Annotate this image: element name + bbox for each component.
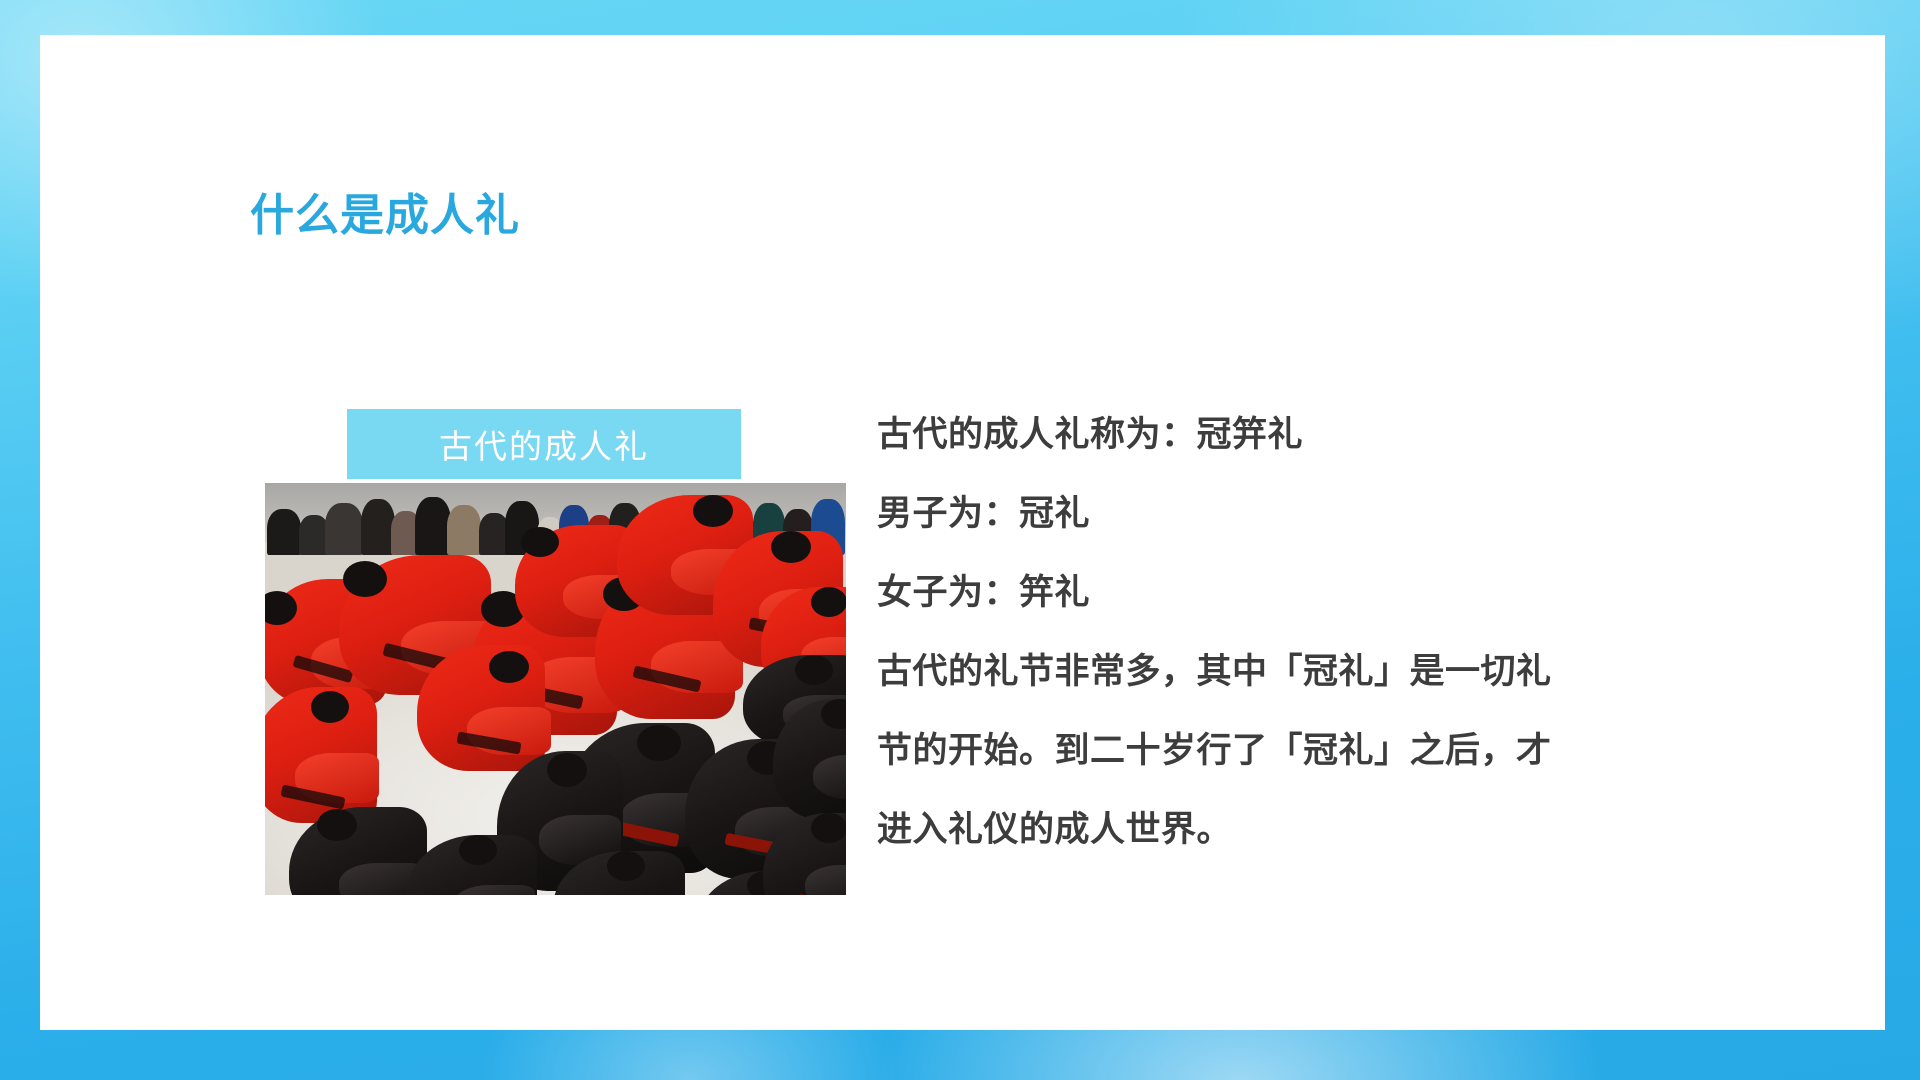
body-text-line: 男子为：冠礼	[877, 474, 1827, 553]
ceremony-participant-black	[773, 699, 846, 819]
spectator	[415, 497, 451, 555]
body-text-block: 古代的成人礼称为：冠笄礼 男子为：冠礼 女子为：笄礼 古代的礼节非常多，其中「冠…	[877, 395, 1827, 869]
spectator	[447, 505, 481, 555]
spectator	[325, 503, 363, 555]
body-text-line: 女子为：笄礼	[877, 553, 1827, 632]
ceremony-participant-black	[763, 813, 846, 895]
slide-content-panel: 什么是成人礼 古代的成人礼	[40, 35, 1885, 1030]
body-text-line: 节的开始。到二十岁行了「冠礼」之后，才	[877, 711, 1827, 790]
body-text-line: 古代的礼节非常多，其中「冠礼」是一切礼	[877, 632, 1827, 711]
body-text-line: 古代的成人礼称为：冠笄礼	[877, 395, 1827, 474]
ceremony-participant-black	[407, 835, 537, 895]
body-text-line: 进入礼仪的成人世界。	[877, 790, 1827, 869]
page-title: 什么是成人礼	[250, 192, 520, 240]
ceremony-participant-black	[553, 851, 685, 895]
photo-caption-label: 古代的成人礼	[439, 420, 649, 468]
photo-caption-badge: 古代的成人礼	[347, 409, 741, 479]
spectator	[361, 499, 395, 555]
slide-canvas: 什么是成人礼 古代的成人礼	[0, 0, 1920, 1080]
ceremony-participant-red	[265, 687, 377, 823]
spectator	[267, 509, 301, 555]
ancient-coming-of-age-ceremony-photo	[265, 483, 846, 895]
